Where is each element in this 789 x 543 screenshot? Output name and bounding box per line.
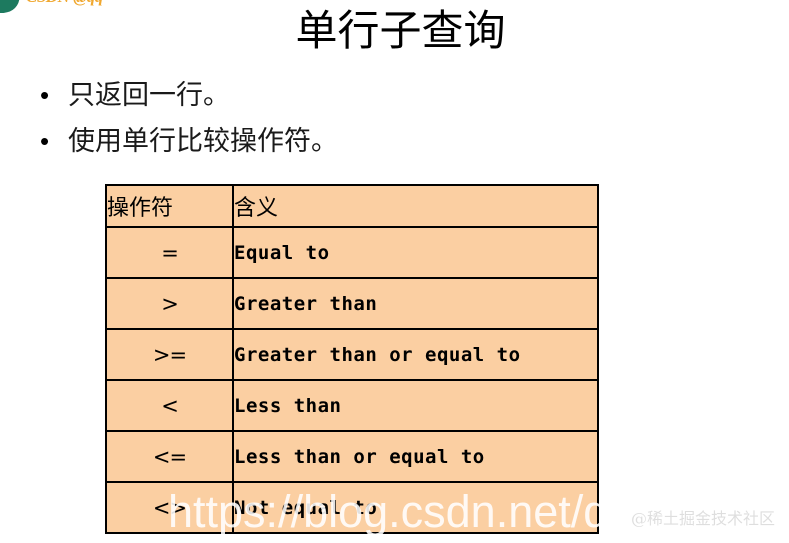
logo-wordmark: CSDN @qq bbox=[26, 0, 103, 7]
slide-canvas: CSDN @qq 单行子查询 • 只返回一行。 • 使用单行比较操作符。 操作符… bbox=[0, 0, 789, 543]
list-item: • 使用单行比较操作符。 bbox=[36, 122, 736, 162]
cell-meaning: Less than or equal to bbox=[233, 431, 598, 482]
cell-meaning: Less than bbox=[233, 380, 598, 431]
cell-operator: < bbox=[106, 380, 233, 431]
table-row: >= Greater than or equal to bbox=[106, 329, 598, 380]
operators-table: 操作符 含义 = Equal to > Greater than >= Grea… bbox=[105, 184, 599, 534]
bullet-marker-icon: • bbox=[36, 122, 68, 160]
cell-operator: > bbox=[106, 278, 233, 329]
table-row: <= Less than or equal to bbox=[106, 431, 598, 482]
list-item: • 只返回一行。 bbox=[36, 76, 736, 116]
bullet-list: • 只返回一行。 • 使用单行比较操作符。 bbox=[36, 76, 736, 168]
cell-operator: >= bbox=[106, 329, 233, 380]
table-row: <> Not equal to bbox=[106, 482, 598, 533]
cell-meaning: Greater than bbox=[233, 278, 598, 329]
table-row: < Less than bbox=[106, 380, 598, 431]
table-header-row: 操作符 含义 bbox=[106, 185, 598, 227]
column-header-operator: 操作符 bbox=[106, 185, 233, 227]
table-row: = Equal to bbox=[106, 227, 598, 278]
watermark-brand: @稀土掘金技术社区 bbox=[631, 505, 775, 529]
page-title: 单行子查询 bbox=[0, 8, 789, 54]
cell-meaning: Not equal to bbox=[233, 482, 598, 533]
table-row: > Greater than bbox=[106, 278, 598, 329]
cell-operator: = bbox=[106, 227, 233, 278]
bullet-text: 只返回一行。 bbox=[68, 76, 230, 116]
cell-meaning: Equal to bbox=[233, 227, 598, 278]
cell-operator: <= bbox=[106, 431, 233, 482]
cell-meaning: Greater than or equal to bbox=[233, 329, 598, 380]
bullet-text: 使用单行比较操作符。 bbox=[68, 122, 338, 162]
cell-operator: <> bbox=[106, 482, 233, 533]
bullet-marker-icon: • bbox=[36, 76, 68, 114]
column-header-meaning: 含义 bbox=[233, 185, 598, 227]
